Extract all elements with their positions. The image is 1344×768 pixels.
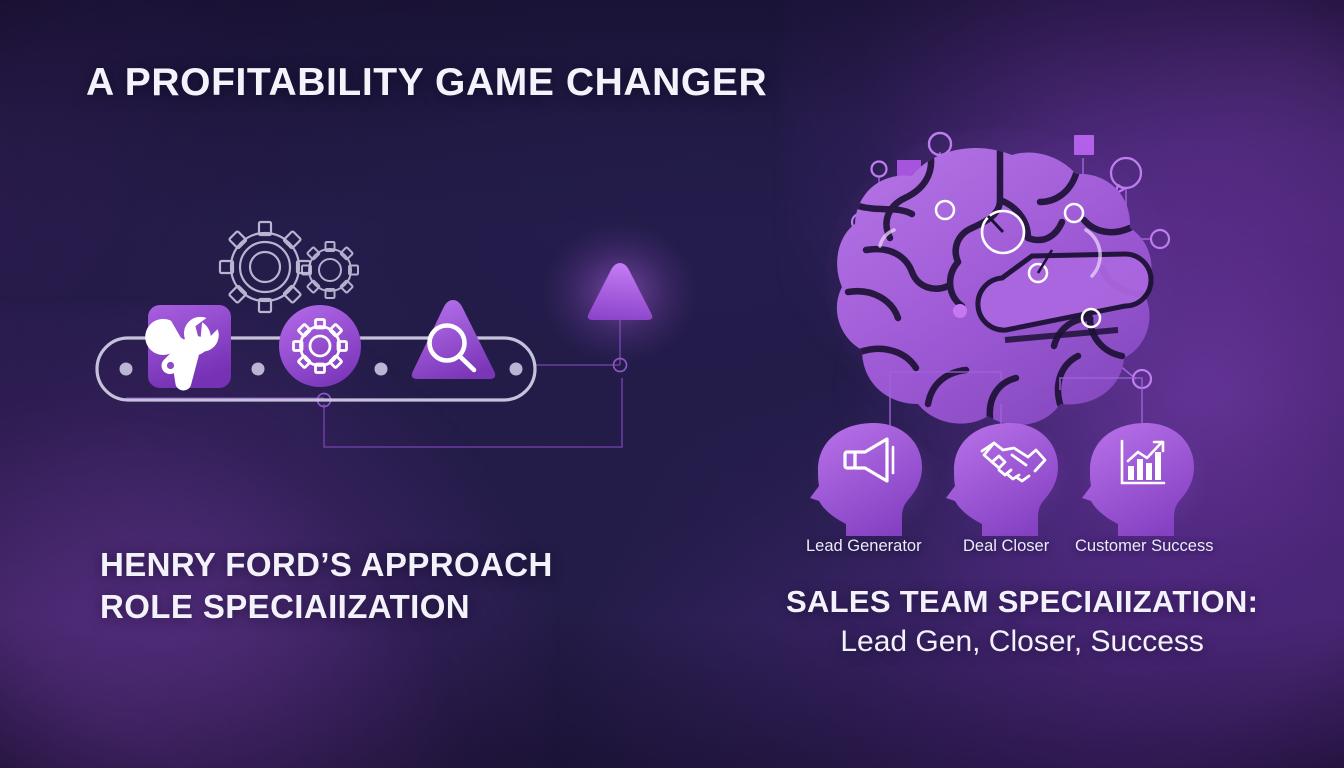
- left-caption-line-2: ROLE SPECIAIIZATION: [100, 586, 553, 628]
- station-wrench: [134, 297, 231, 394]
- persona-label-customer-success: Customer Success: [1075, 537, 1213, 556]
- persona-label-lead-generator: Lead Generator: [806, 537, 922, 556]
- small-gear-outline: [302, 242, 358, 298]
- persona-label-deal-closer: Deal Closer: [963, 537, 1049, 556]
- persona-head-customer-success: [1082, 420, 1210, 536]
- persona-head-lead-generator: [810, 420, 938, 536]
- station-gear: [279, 305, 361, 387]
- right-caption-line-1: SALES TEAM SPECIAIIZATION:: [786, 582, 1258, 622]
- large-gear-outline: [220, 222, 310, 312]
- output-triangle: [542, 222, 698, 362]
- persona-head-deal-closer: [946, 420, 1074, 536]
- brain-shape: [825, 128, 1175, 428]
- right-caption-line-2: Lead Gen, Closer, Success: [786, 622, 1258, 662]
- page-title: A PROFITABILITY GAME CHANGER: [86, 61, 767, 105]
- slide-canvas: A PROFITABILITY GAME CHANGER HENRY FORD’…: [0, 0, 1344, 768]
- left-caption: HENRY FORD’S APPROACH ROLE SPECIAIIZATIO…: [100, 544, 553, 628]
- left-caption-line-1: HENRY FORD’S APPROACH: [100, 544, 553, 586]
- right-caption: SALES TEAM SPECIAIIZATION: Lead Gen, Clo…: [786, 582, 1258, 662]
